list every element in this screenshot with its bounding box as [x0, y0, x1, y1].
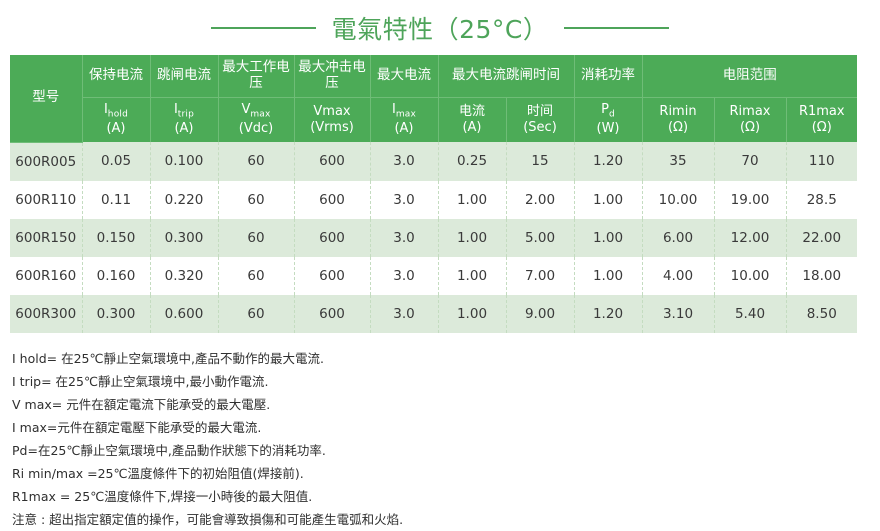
cell-imax: 3.0 — [370, 257, 438, 295]
cell-model: 600R300 — [10, 295, 82, 333]
symbol-vmax: V — [241, 102, 250, 117]
subheader-rimax: Rimax (Ω) — [714, 98, 786, 143]
cell-vmax-rms: 600 — [294, 219, 370, 257]
cell-r1max: 22.00 — [786, 219, 857, 257]
subheader-rimin: Rimin (Ω) — [642, 98, 714, 143]
header-power-dissipation: 消耗功率 — [574, 55, 642, 98]
footnote-ihold: I hold= 在25℃靜止空氣環境中,產品不動作的最大電流. — [12, 347, 880, 370]
footnote-pd: Pd=在25℃靜止空氣環境中,產品動作狀態下的消耗功率. — [12, 439, 880, 462]
cell-vmax-rms: 600 — [294, 142, 370, 181]
unit-rimin: (Ω) — [644, 120, 713, 136]
cell-rimin: 10.00 — [642, 181, 714, 219]
symbol-vmax-rms: Vmax — [313, 104, 350, 119]
symbol-r1max: R1max — [799, 104, 845, 119]
cell-pd: 1.20 — [574, 142, 642, 181]
header-trip-current: 跳闸电流 — [150, 55, 218, 98]
cell-pd: 1.00 — [574, 181, 642, 219]
cell-imax: 3.0 — [370, 295, 438, 333]
table-row: 600R110 0.11 0.220 60 600 3.0 1.00 2.00 … — [10, 181, 857, 219]
cell-trip-time: 5.00 — [506, 219, 574, 257]
cell-imax: 3.0 — [370, 181, 438, 219]
page-title-block: 電氣特性（25°C） — [0, 0, 880, 55]
cell-trip-time: 9.00 — [506, 295, 574, 333]
table-group-header-row: 型号 保持电流 跳闸电流 最大工作电压 最大冲击电压 最大电流 最大电流跳闸时间… — [10, 55, 857, 98]
footnote-r1max: R1max = 25℃溫度條件下,焊接一小時後的最大阻值. — [12, 485, 880, 508]
unit-trip-current: (A) — [440, 120, 505, 136]
cell-pd: 1.00 — [574, 219, 642, 257]
header-hold-current: 保持电流 — [82, 55, 150, 98]
cell-ihold: 0.05 — [82, 142, 150, 181]
subheader-r1max: R1max (Ω) — [786, 98, 857, 143]
cell-itrip: 0.220 — [150, 181, 218, 219]
header-max-working-voltage: 最大工作电压 — [218, 55, 294, 98]
cell-model: 600R150 — [10, 219, 82, 257]
cell-rimax: 5.40 — [714, 295, 786, 333]
cell-trip-time: 15 — [506, 142, 574, 181]
subscript-imax: max — [396, 110, 416, 120]
subscript-pd: d — [609, 110, 615, 120]
cell-r1max: 18.00 — [786, 257, 857, 295]
subheader-trip-time: 时间 (Sec) — [506, 98, 574, 143]
footnote-warning: 注意 : 超出指定額定值的操作，可能會導致損傷和可能產生電弧和火焰. — [12, 508, 880, 531]
cell-imax: 3.0 — [370, 142, 438, 181]
cell-ihold: 0.150 — [82, 219, 150, 257]
table-row: 600R300 0.300 0.600 60 600 3.0 1.00 9.00… — [10, 295, 857, 333]
footnotes: I hold= 在25℃靜止空氣環境中,產品不動作的最大電流. I trip= … — [12, 347, 880, 531]
cell-pd: 1.20 — [574, 295, 642, 333]
header-max-current: 最大电流 — [370, 55, 438, 98]
cell-itrip: 0.100 — [150, 142, 218, 181]
cell-itrip: 0.320 — [150, 257, 218, 295]
cell-model: 600R110 — [10, 181, 82, 219]
table-head: 型号 保持电流 跳闸电流 最大工作电压 最大冲击电压 最大电流 最大电流跳闸时间… — [10, 55, 857, 142]
subscript-vmax: max — [250, 110, 270, 120]
title-rule-right — [564, 27, 669, 29]
subheader-vmax: Vmax (Vdc) — [218, 98, 294, 143]
unit-ihold: (A) — [84, 121, 149, 137]
table-row: 600R005 0.05 0.100 60 600 3.0 0.25 15 1.… — [10, 142, 857, 181]
cell-trip-current: 1.00 — [438, 219, 506, 257]
cell-trip-time: 2.00 — [506, 181, 574, 219]
unit-r1max: (Ω) — [788, 120, 857, 136]
cell-model: 600R160 — [10, 257, 82, 295]
table-sub-header-row: Ihold (A) Itrip (A) Vmax (Vdc) Vmax (Vrm… — [10, 98, 857, 143]
cell-trip-current: 1.00 — [438, 295, 506, 333]
cell-vmax: 60 — [218, 142, 294, 181]
cell-rimin: 35 — [642, 142, 714, 181]
symbol-trip-time: 时间 — [527, 104, 553, 119]
cell-rimin: 6.00 — [642, 219, 714, 257]
cell-itrip: 0.600 — [150, 295, 218, 333]
cell-vmax-rms: 600 — [294, 295, 370, 333]
cell-rimax: 19.00 — [714, 181, 786, 219]
cell-trip-current: 0.25 — [438, 142, 506, 181]
table-row: 600R160 0.160 0.320 60 600 3.0 1.00 7.00… — [10, 257, 857, 295]
cell-rimax: 12.00 — [714, 219, 786, 257]
footnote-itrip: I trip= 在25℃靜止空氣環境中,最小動作電流. — [12, 370, 880, 393]
subheader-ihold: Ihold (A) — [82, 98, 150, 143]
footnote-vmax: V max= 元件在額定電流下能承受的最大電壓. — [12, 393, 880, 416]
table-body: 600R005 0.05 0.100 60 600 3.0 0.25 15 1.… — [10, 142, 857, 333]
header-max-surge-voltage: 最大冲击电压 — [294, 55, 370, 98]
unit-rimax: (Ω) — [716, 120, 785, 136]
subheader-pd: Pd (W) — [574, 98, 642, 143]
unit-imax: (A) — [372, 121, 437, 137]
cell-rimax: 10.00 — [714, 257, 786, 295]
subscript-hold: hold — [108, 110, 128, 120]
cell-r1max: 28.5 — [786, 181, 857, 219]
cell-vmax: 60 — [218, 219, 294, 257]
symbol-pd: P — [601, 102, 609, 117]
cell-rimin: 3.10 — [642, 295, 714, 333]
cell-vmax-rms: 600 — [294, 257, 370, 295]
cell-r1max: 110 — [786, 142, 857, 181]
subscript-trip: trip — [178, 110, 194, 120]
electrical-characteristics-table: 型号 保持电流 跳闸电流 最大工作电压 最大冲击电压 最大电流 最大电流跳闸时间… — [10, 55, 857, 333]
cell-vmax: 60 — [218, 181, 294, 219]
footnote-imax: I max=元件在額定電壓下能承受的最大電流. — [12, 416, 880, 439]
cell-model: 600R005 — [10, 142, 82, 181]
cell-rimin: 4.00 — [642, 257, 714, 295]
cell-rimax: 70 — [714, 142, 786, 181]
header-resistance-range: 电阻范围 — [642, 55, 857, 98]
subheader-vmax-rms: Vmax (Vrms) — [294, 98, 370, 143]
table-row: 600R150 0.150 0.300 60 600 3.0 1.00 5.00… — [10, 219, 857, 257]
cell-trip-current: 1.00 — [438, 257, 506, 295]
symbol-trip-current: 电流 — [459, 104, 485, 119]
cell-ihold: 0.300 — [82, 295, 150, 333]
unit-vmax: (Vdc) — [220, 121, 293, 137]
unit-trip-time: (Sec) — [508, 120, 573, 136]
cell-itrip: 0.300 — [150, 219, 218, 257]
symbol-rimax: Rimax — [730, 104, 771, 119]
cell-vmax: 60 — [218, 257, 294, 295]
symbol-rimin: Rimin — [659, 104, 696, 119]
cell-ihold: 0.11 — [82, 181, 150, 219]
cell-r1max: 8.50 — [786, 295, 857, 333]
cell-ihold: 0.160 — [82, 257, 150, 295]
cell-trip-current: 1.00 — [438, 181, 506, 219]
subheader-imax: Imax (A) — [370, 98, 438, 143]
header-max-current-trip-time: 最大电流跳闸时间 — [438, 55, 574, 98]
cell-pd: 1.00 — [574, 257, 642, 295]
unit-vmax-rms: (Vrms) — [296, 120, 369, 136]
subheader-itrip: Itrip (A) — [150, 98, 218, 143]
footnote-ri-minmax: Ri min/max =25℃溫度條件下的初始阻值(焊接前). — [12, 462, 880, 485]
page-title: 電氣特性（25°C） — [332, 10, 549, 46]
cell-trip-time: 7.00 — [506, 257, 574, 295]
subheader-trip-current: 电流 (A) — [438, 98, 506, 143]
cell-vmax-rms: 600 — [294, 181, 370, 219]
header-model: 型号 — [10, 55, 82, 142]
spec-table-wrapper: 型号 保持电流 跳闸电流 最大工作电压 最大冲击电压 最大电流 最大电流跳闸时间… — [10, 55, 857, 333]
cell-imax: 3.0 — [370, 219, 438, 257]
cell-vmax: 60 — [218, 295, 294, 333]
unit-itrip: (A) — [152, 121, 217, 137]
unit-pd: (W) — [576, 121, 641, 137]
title-rule-left — [211, 27, 316, 29]
